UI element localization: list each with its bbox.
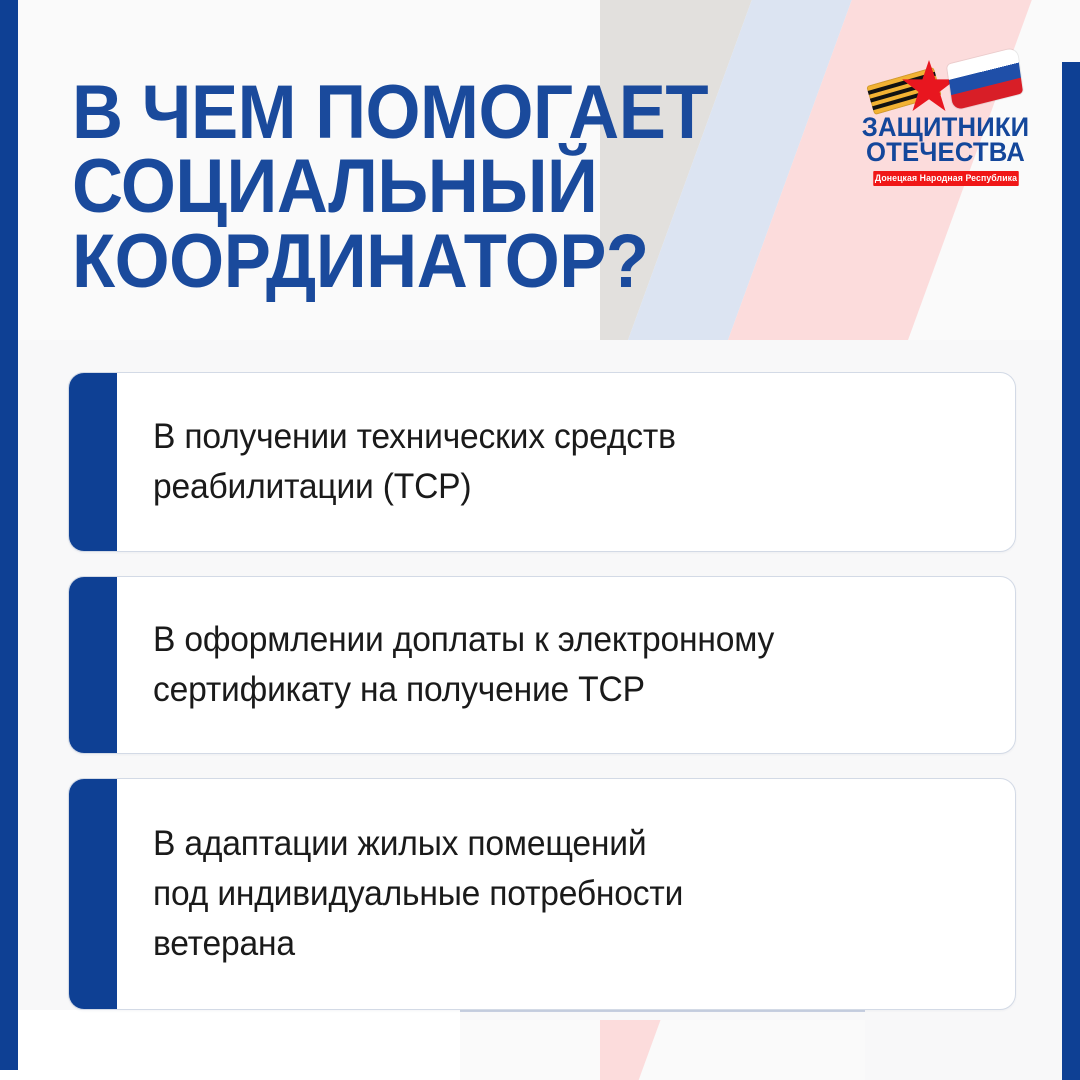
logo-wordmark: ЗАЩИТНИКИ ОТЕЧЕСТВА (858, 115, 1034, 166)
russian-flag-icon (947, 47, 1023, 110)
page-title: В ЧЕМ ПОМОГАЕТ СОЦИАЛЬНЫЙ КООРДИНАТОР? (72, 76, 779, 299)
card-accent-bar (69, 373, 117, 551)
logo-emblem (853, 52, 1038, 114)
card-body: В получении технических средств реабилит… (117, 373, 1015, 551)
service-card: В оформлении доплаты к электронному серт… (68, 576, 1016, 754)
logo-region-badge: Донецкая Народная Республика (873, 171, 1019, 186)
logo: ЗАЩИТНИКИ ОТЕЧЕСТВА Донецкая Народная Ре… (853, 52, 1038, 177)
card-accent-bar (69, 779, 117, 1009)
card-accent-bar (69, 577, 117, 753)
card-text: В оформлении доплаты к электронному серт… (153, 615, 774, 714)
header: В ЧЕМ ПОМОГАЕТ СОЦИАЛЬНЫЙ КООРДИНАТОР? З… (0, 0, 1080, 345)
card-body: В оформлении доплаты к электронному серт… (117, 577, 1015, 753)
service-card: В адаптации жилых помещений под индивиду… (68, 778, 1016, 1010)
card-text: В получении технических средств реабилит… (153, 412, 676, 511)
service-card: В получении технических средств реабилит… (68, 372, 1016, 552)
service-card-list: В получении технических средств реабилит… (68, 372, 1016, 1034)
card-text: В адаптации жилых помещений под индивиду… (153, 819, 683, 968)
card-body: В адаптации жилых помещений под индивиду… (117, 779, 1015, 1009)
